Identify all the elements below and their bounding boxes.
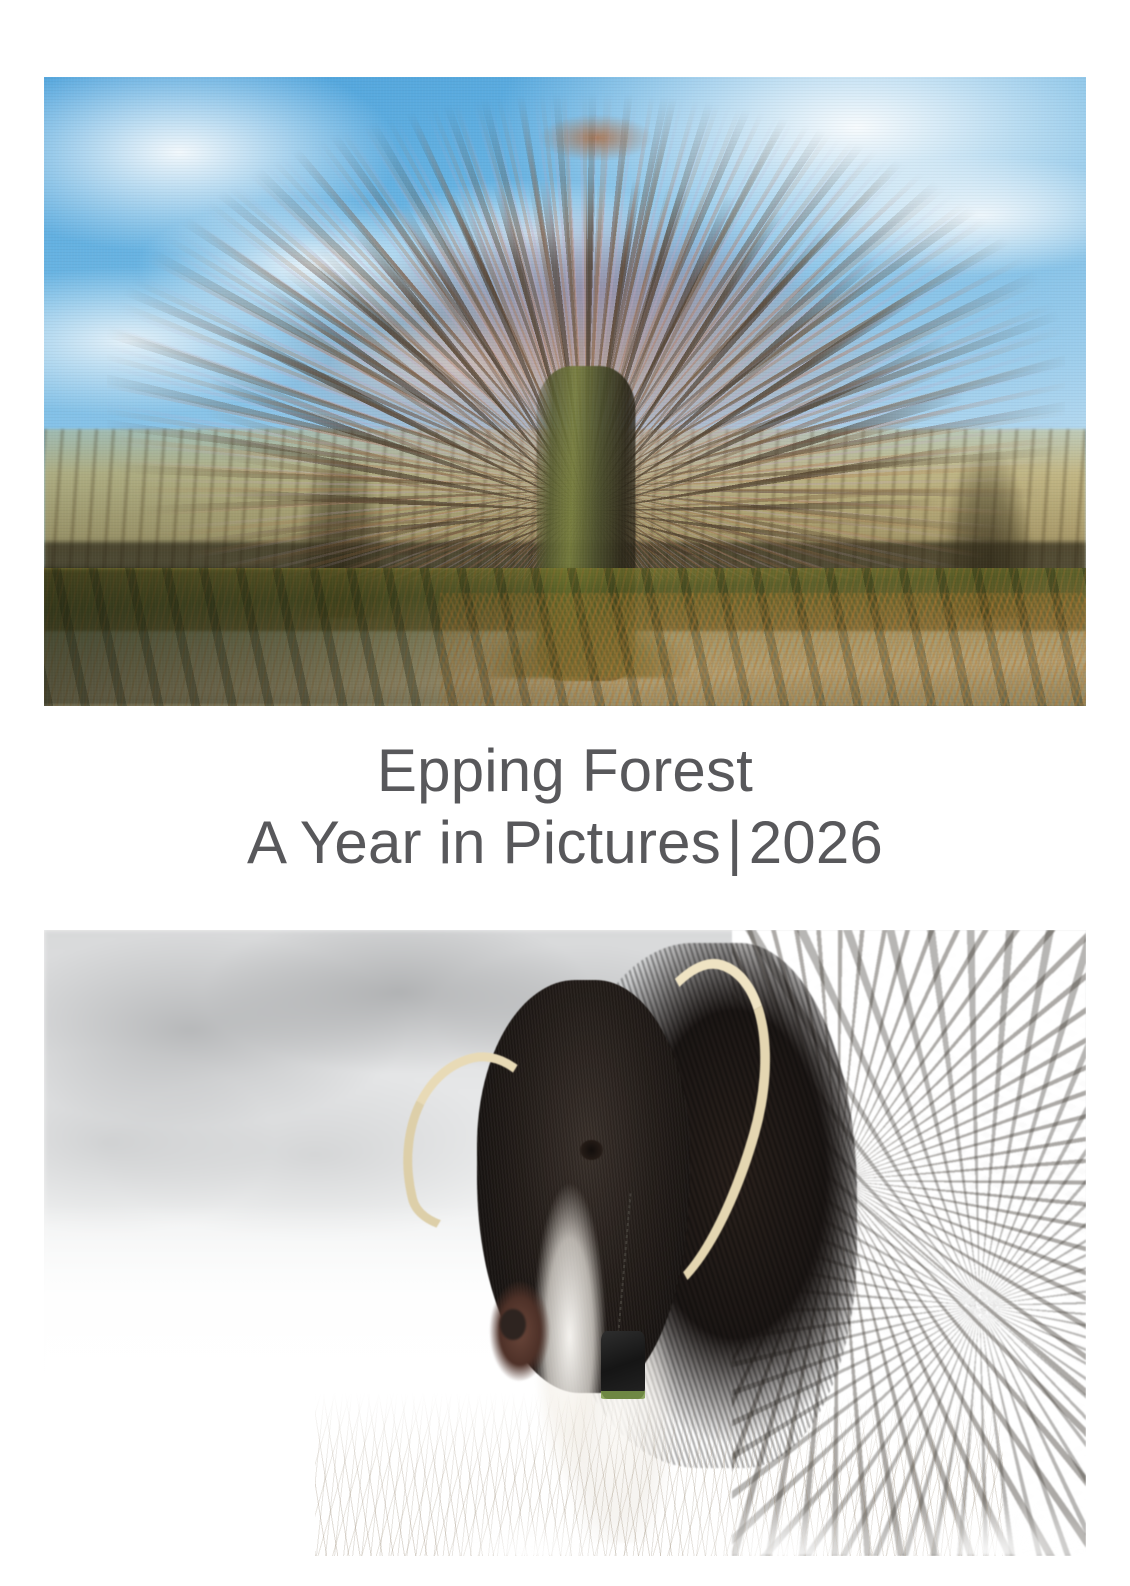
ox-gps-collar-tag bbox=[601, 1331, 645, 1400]
calendar-cover-page: Epping Forest A Year in Pictures|2026 bbox=[0, 0, 1130, 1586]
glade-cast-shadow bbox=[44, 568, 648, 706]
title-separator: | bbox=[721, 809, 749, 876]
page-subtitle-text: A Year in Pictures bbox=[247, 809, 721, 876]
autumn-oak-photo bbox=[44, 77, 1086, 706]
ox-eye bbox=[580, 1140, 604, 1160]
foreground-snow-mounds bbox=[294, 1443, 1086, 1556]
page-subtitle: A Year in Pictures|2026 bbox=[0, 807, 1130, 879]
cover-title-block: Epping Forest A Year in Pictures|2026 bbox=[0, 735, 1130, 879]
ox-nostril bbox=[500, 1309, 526, 1340]
page-title: Epping Forest bbox=[0, 735, 1130, 807]
winter-longhorn-photo bbox=[44, 930, 1086, 1556]
calendar-year: 2026 bbox=[749, 809, 883, 876]
